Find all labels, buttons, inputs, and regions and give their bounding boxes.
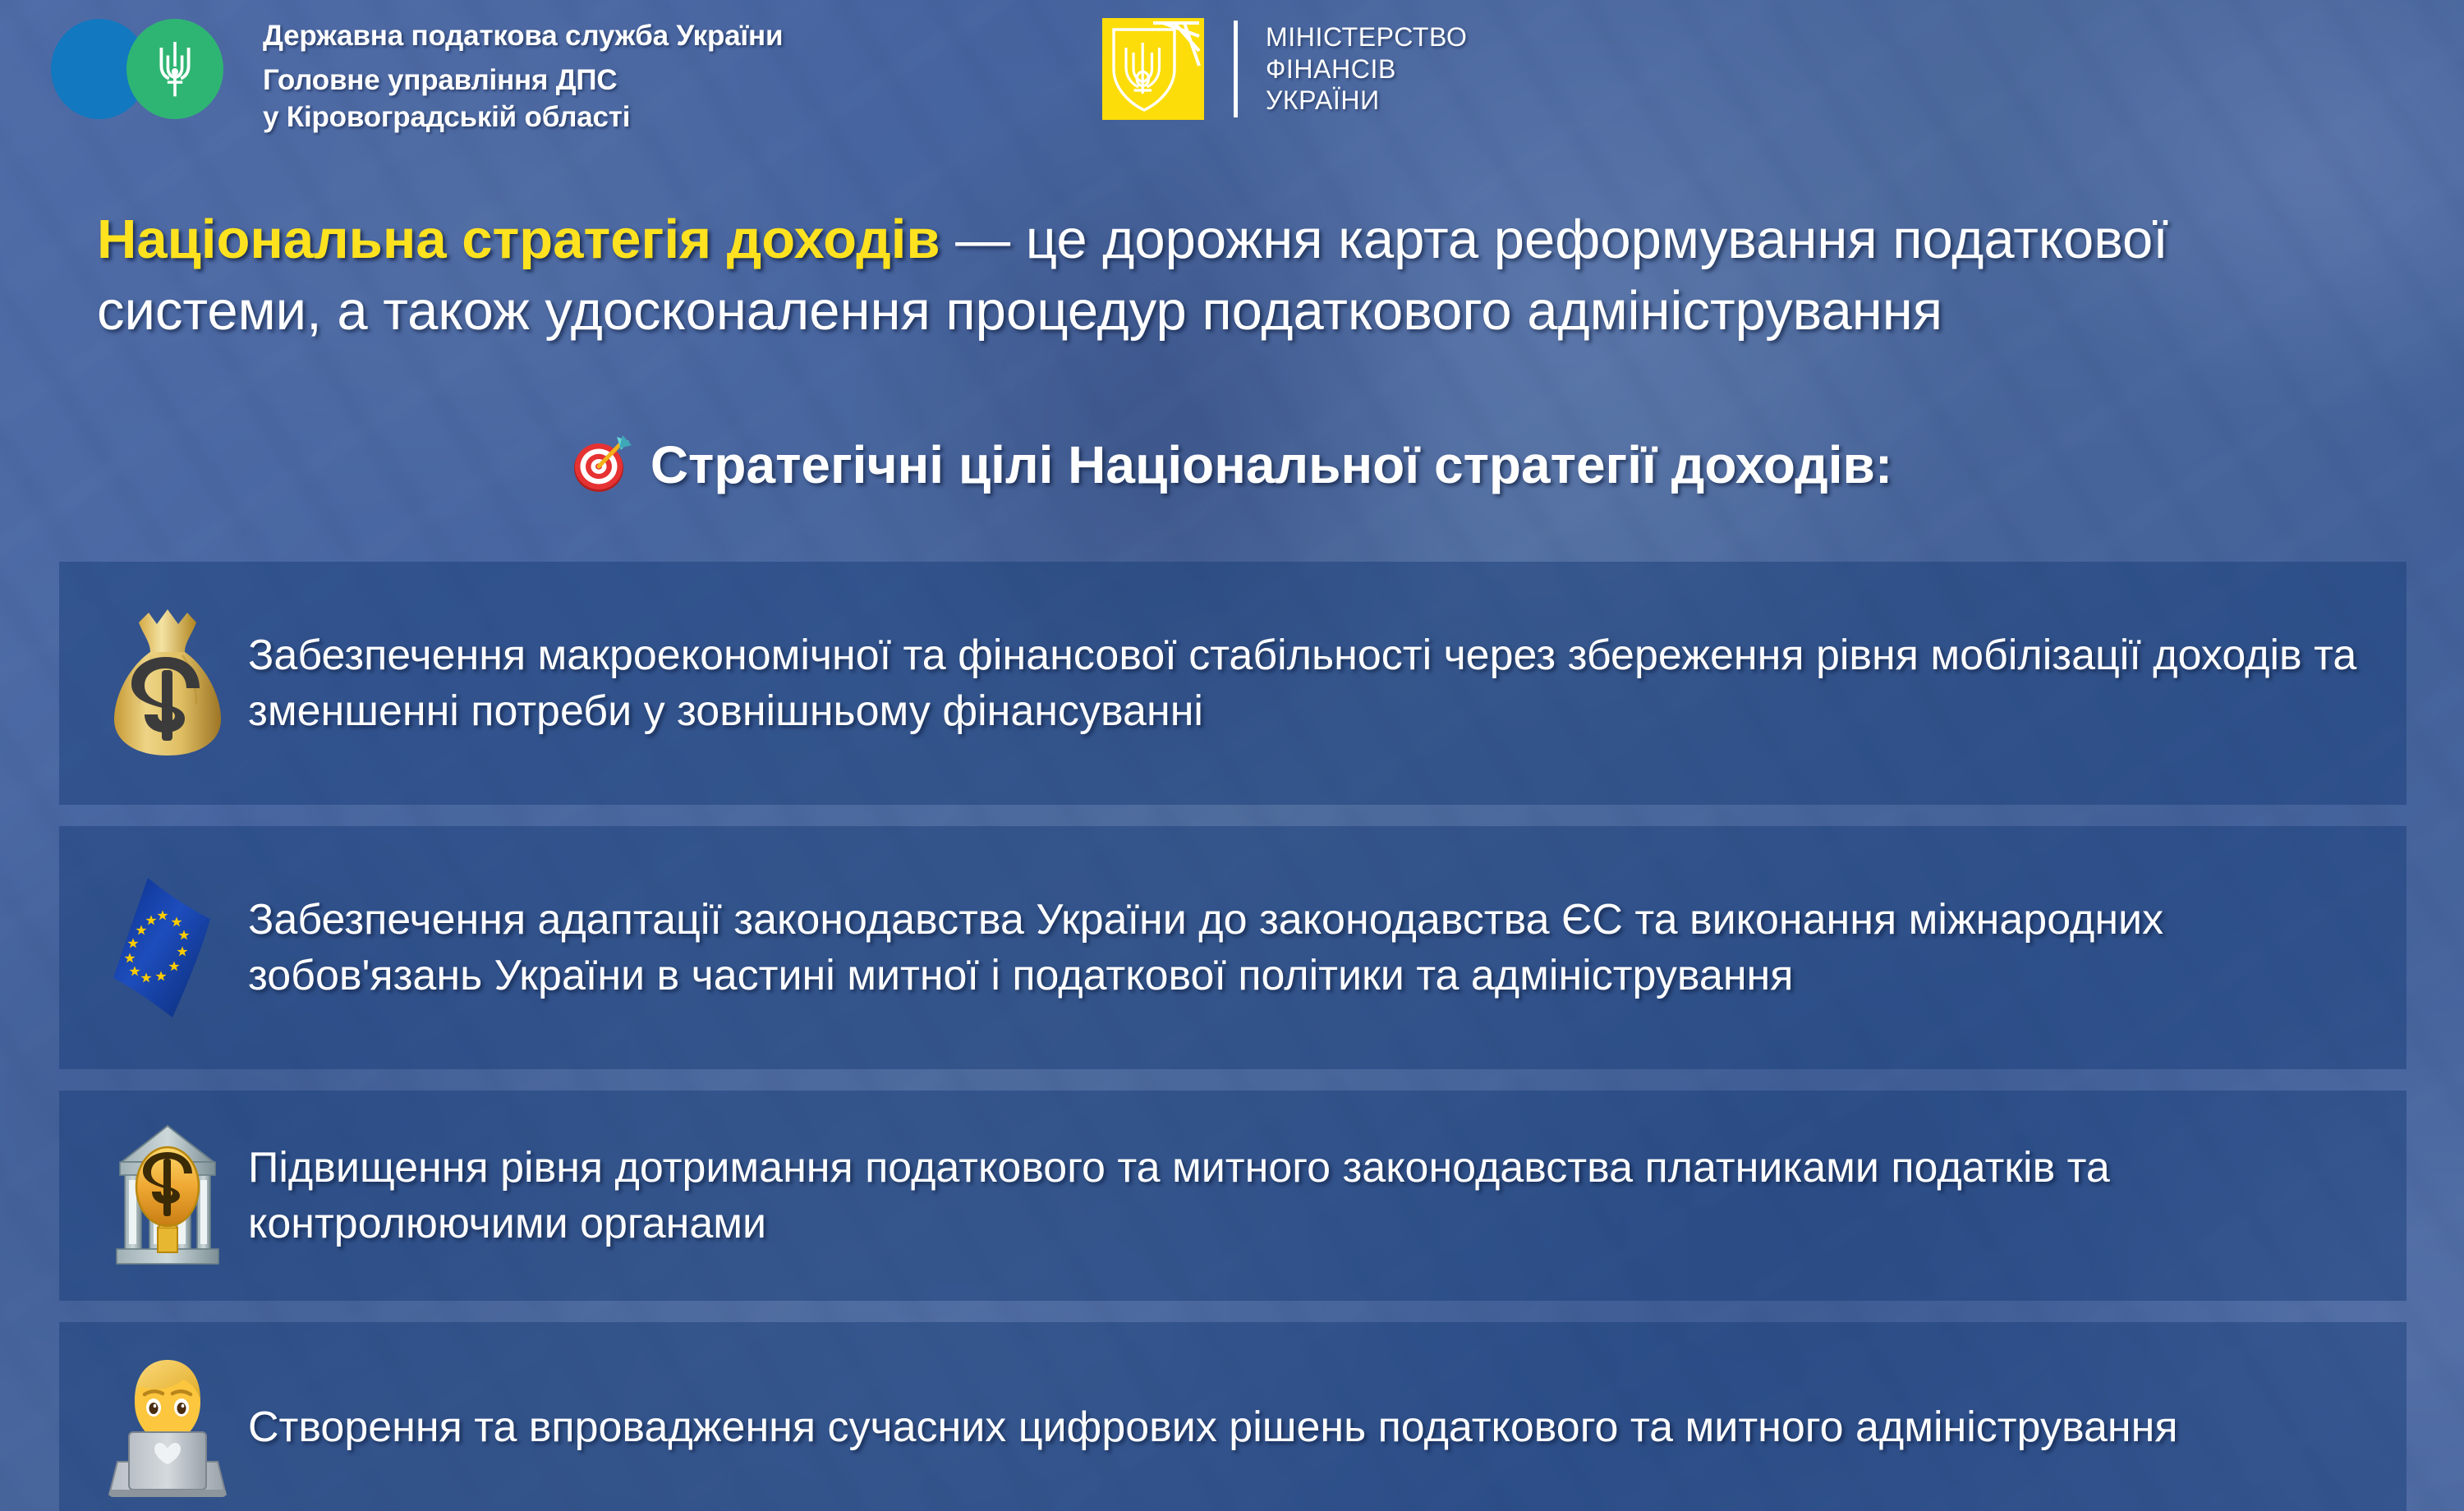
european-union-flag-icon bbox=[87, 870, 248, 1026]
goal-card-2-text: Забезпечення адаптації законодавства Укр… bbox=[248, 892, 2377, 1004]
headline-highlight: Національна стратегія доходів bbox=[97, 209, 940, 270]
goals-heading: Стратегічні цілі Національної стратегії … bbox=[0, 434, 2464, 507]
minfin-title-line-2: ФІНАНСІВ bbox=[1266, 53, 1467, 85]
ministry-of-finance-mark-icon bbox=[1102, 18, 1204, 120]
trident-icon bbox=[156, 40, 194, 99]
bank-building-icon bbox=[87, 1123, 248, 1269]
minfin-title-line-3: УКРАЇНИ bbox=[1266, 85, 1467, 116]
headline: Національна стратегія доходів — це дорож… bbox=[97, 204, 2364, 347]
goal-card-1: Забезпечення макроекономічної та фінансо… bbox=[59, 562, 2407, 805]
dps-title-line-3: у Кіровоградській області bbox=[263, 99, 783, 136]
goal-card-1-text: Забезпечення макроекономічної та фінансо… bbox=[248, 627, 2377, 739]
goal-card-4: Створення та впровадження сучасних цифро… bbox=[59, 1322, 2407, 1511]
minfin-title-line-1: МІНІСТЕРСТВО bbox=[1266, 21, 1467, 53]
dps-logo: Державна податкова служба України Головн… bbox=[51, 19, 248, 119]
dps-title-line-2: Головне управління ДПС bbox=[263, 62, 783, 99]
goal-card-2: Забезпечення адаптації законодавства Укр… bbox=[59, 826, 2407, 1069]
man-technologist-laptop-icon bbox=[87, 1353, 248, 1501]
goal-card-4-text: Створення та впровадження сучасних цифро… bbox=[248, 1399, 2178, 1455]
dps-title-line-1: Державна податкова служба України bbox=[263, 17, 783, 55]
logo-divider bbox=[1234, 21, 1238, 117]
goals-list: Забезпечення макроекономічної та фінансо… bbox=[59, 562, 2407, 1511]
money-bag-icon bbox=[87, 606, 248, 760]
minfin-logo: МІНІСТЕРСТВО ФІНАНСІВ УКРАЇНИ bbox=[1102, 18, 1467, 120]
goals-heading-text: Стратегічні цілі Національної стратегії … bbox=[650, 435, 1892, 494]
goal-card-3-text: Підвищення рівня дотримання податкового … bbox=[248, 1140, 2377, 1252]
header: Державна податкова служба України Головн… bbox=[51, 18, 1467, 120]
direct-hit-target-icon bbox=[572, 434, 632, 507]
goal-card-3: Підвищення рівня дотримання податкового … bbox=[59, 1091, 2407, 1301]
infographic-poster: Державна податкова служба України Головн… bbox=[0, 0, 2464, 1511]
